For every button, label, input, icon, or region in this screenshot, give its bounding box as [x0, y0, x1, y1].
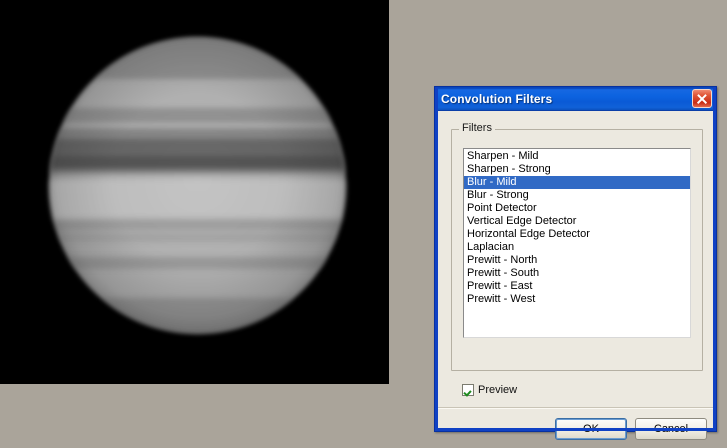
- planet-limb-darkening: [49, 37, 346, 334]
- desktop-background: Convolution Filters Filters Sharpen - Mi…: [0, 0, 727, 448]
- list-item[interactable]: Blur - Strong: [464, 189, 690, 202]
- list-item[interactable]: Vertical Edge Detector: [464, 215, 690, 228]
- list-item[interactable]: Prewitt - East: [464, 280, 690, 293]
- filters-listbox[interactable]: Sharpen - MildSharpen - StrongBlur - Mil…: [463, 148, 691, 338]
- dialog-title: Convolution Filters: [441, 92, 692, 106]
- button-bar-separator: [438, 407, 715, 409]
- list-item[interactable]: Sharpen - Mild: [464, 150, 690, 163]
- list-item[interactable]: Prewitt - West: [464, 293, 690, 306]
- ok-button[interactable]: OK: [555, 418, 627, 440]
- planet-image: [0, 0, 389, 384]
- filters-groupbox-label: Filters: [459, 122, 495, 134]
- close-icon[interactable]: [692, 89, 712, 108]
- dialog-titlebar[interactable]: Convolution Filters: [435, 87, 716, 111]
- list-item[interactable]: Laplacian: [464, 241, 690, 254]
- checkmark-icon[interactable]: [462, 384, 474, 396]
- list-item[interactable]: Point Detector: [464, 202, 690, 215]
- list-item[interactable]: Horizontal Edge Detector: [464, 228, 690, 241]
- list-item[interactable]: Sharpen - Strong: [464, 163, 690, 176]
- image-viewer-canvas[interactable]: [0, 0, 389, 384]
- dialog-body: Filters Sharpen - MildSharpen - StrongBl…: [438, 112, 713, 428]
- cancel-button[interactable]: Cancel: [635, 418, 707, 440]
- convolution-filters-dialog[interactable]: Convolution Filters Filters Sharpen - Mi…: [434, 86, 717, 432]
- filters-groupbox: Filters Sharpen - MildSharpen - StrongBl…: [451, 129, 703, 371]
- list-item[interactable]: Prewitt - South: [464, 267, 690, 280]
- list-item[interactable]: Blur - Mild: [464, 176, 690, 189]
- preview-checkbox[interactable]: Preview: [462, 384, 517, 396]
- preview-checkbox-label: Preview: [478, 384, 517, 396]
- list-item[interactable]: Prewitt - North: [464, 254, 690, 267]
